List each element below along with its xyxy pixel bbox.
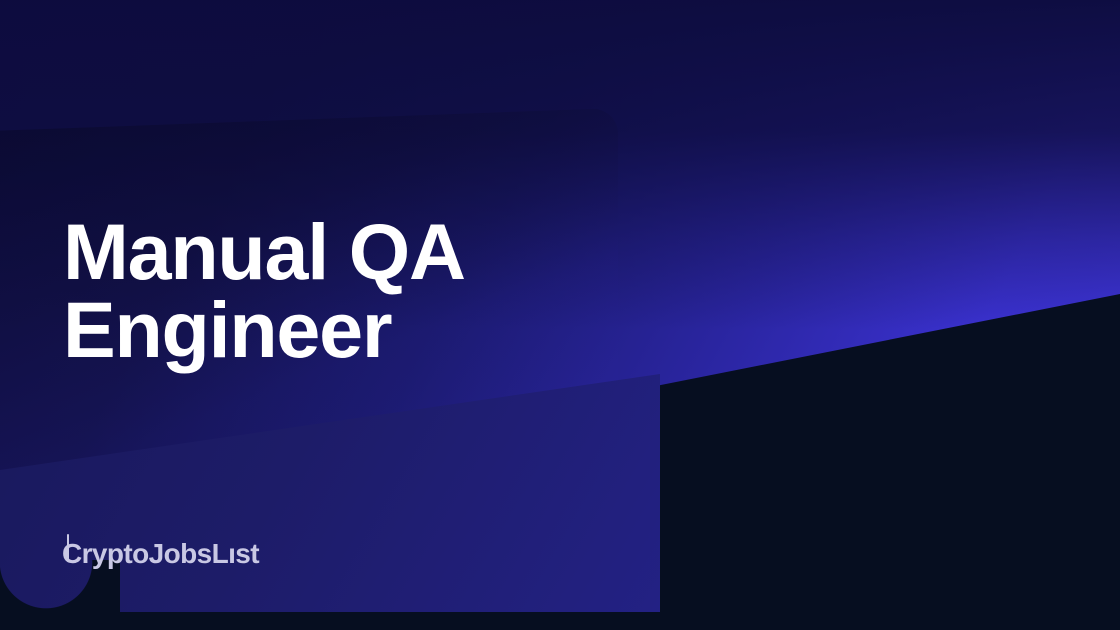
brand-initial-letter: C [62,538,82,569]
job-share-card: Manual QA Engineer C ryptoJobsLıst [0,0,1120,630]
job-title: Manual QA Engineer [63,213,583,369]
card-content: Manual QA Engineer C ryptoJobsLıst [0,0,1120,630]
brand-wordmark: ryptoJobsLıst [82,538,259,570]
brand-logo[interactable]: C ryptoJobsLıst [62,538,259,570]
brand-c-strike-icon [67,534,70,562]
brand-initial-c: C [62,538,82,570]
